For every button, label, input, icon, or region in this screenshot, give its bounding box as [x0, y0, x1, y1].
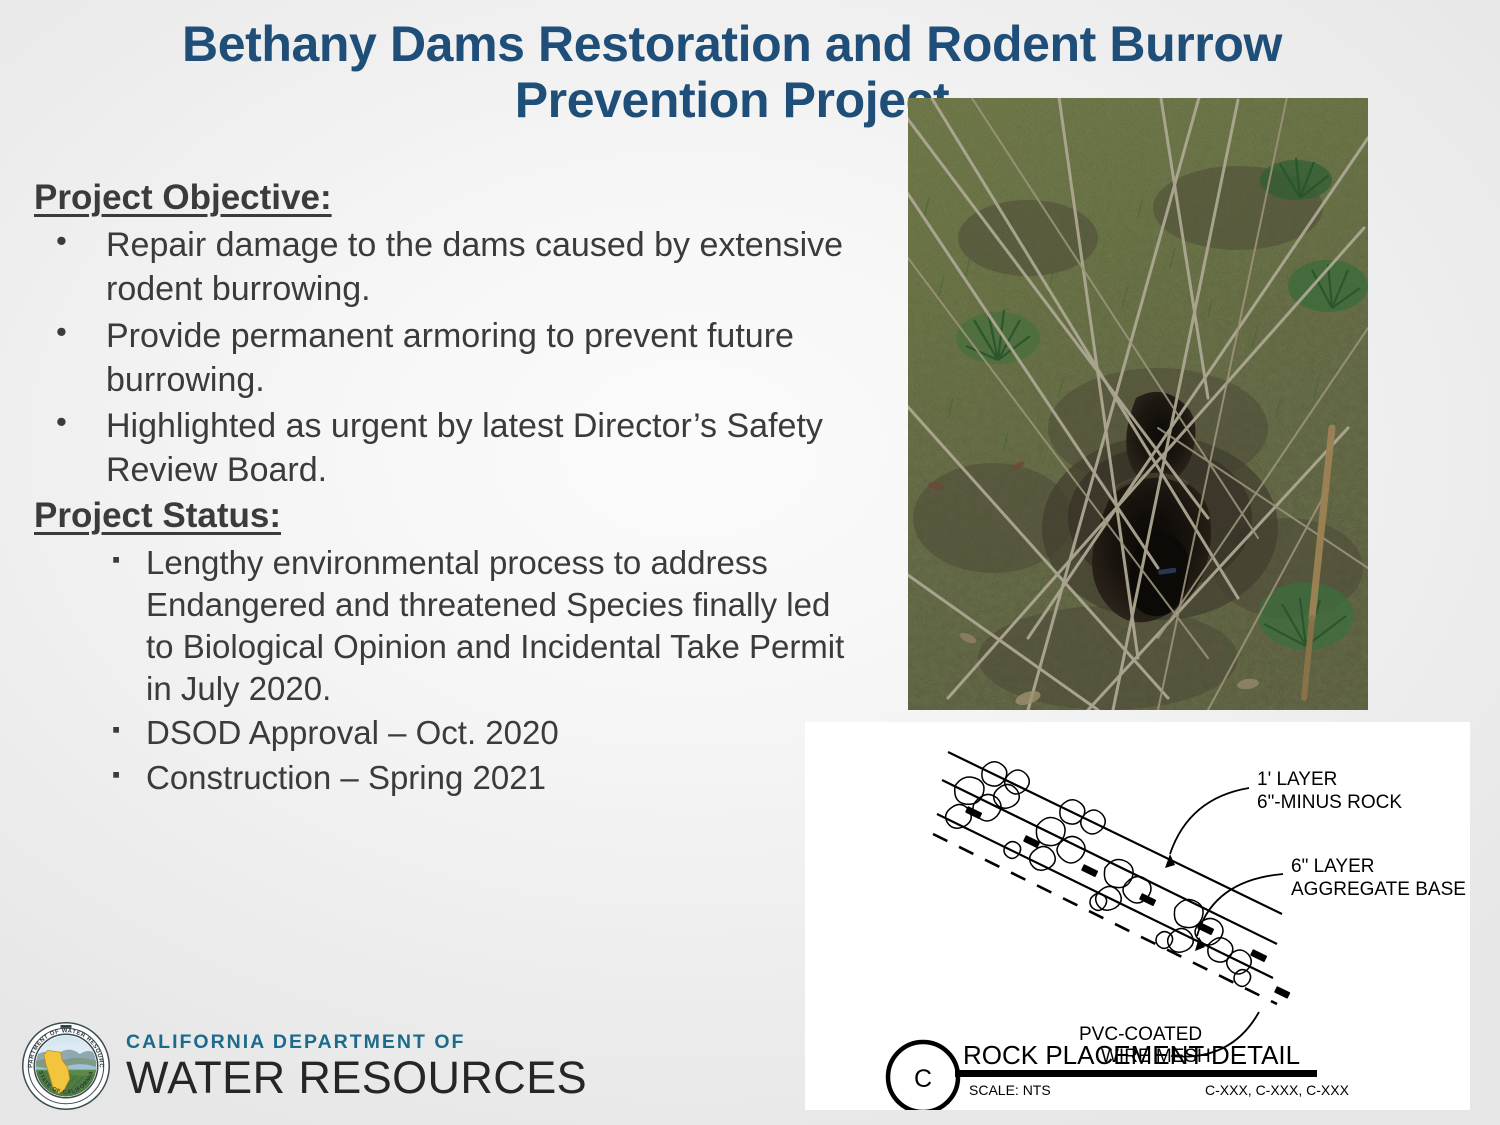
round-bullet-icon: •	[56, 221, 67, 261]
detail-scale: SCALE: NTS	[969, 1082, 1051, 1098]
list-item: ▪ DSOD Approval – Oct. 2020	[26, 712, 846, 754]
california-dwr-seal-icon: DEPARTMENT OF WATER RESOURCES STATE OF C…	[20, 1020, 112, 1112]
list-item-text: Construction – Spring 2021	[146, 759, 546, 796]
dwr-logo-wordmark: CALIFORNIA DEPARTMENT OF WATER RESOURCES	[126, 1031, 587, 1101]
list-item-text: Highlighted as urgent by latest Director…	[106, 407, 823, 489]
list-item: • Highlighted as urgent by latest Direct…	[26, 404, 846, 492]
diagram-label-2-line2: AGGREGATE BASE	[1291, 879, 1466, 900]
detail-marker-letter: C	[914, 1065, 932, 1093]
square-bullet-icon: ▪	[112, 758, 120, 790]
content-column: Project Objective: • Repair damage to th…	[26, 178, 846, 801]
title-block-rule	[955, 1070, 1317, 1077]
section-heading-status: Project Status:	[34, 496, 846, 535]
status-bullet-list: ▪ Lengthy environmental process to addre…	[26, 542, 846, 799]
dwr-logo: DEPARTMENT OF WATER RESOURCES STATE OF C…	[20, 1018, 587, 1114]
diagram-label-1-line2: 6"-MINUS ROCK	[1257, 792, 1402, 813]
list-item: ▪ Lengthy environmental process to addre…	[26, 542, 846, 711]
round-bullet-icon: •	[56, 312, 67, 352]
slide-canvas: Bethany Dams Restoration and Rodent Burr…	[0, 0, 1500, 1125]
list-item-text: Repair damage to the dams caused by exte…	[106, 226, 843, 308]
rock-placement-detail-drawing: 1' LAYER 6"-MINUS ROCK 6" LAYER AGGREGAT…	[805, 722, 1470, 1110]
list-item-text: DSOD Approval – Oct. 2020	[146, 714, 559, 751]
list-item: • Provide permanent armoring to prevent …	[26, 314, 846, 402]
list-item: • Repair damage to the dams caused by ex…	[26, 223, 846, 311]
dwr-logo-line1: CALIFORNIA DEPARTMENT OF	[126, 1031, 587, 1054]
round-bullet-icon: •	[56, 402, 67, 442]
diagram-label-1-line1: 1' LAYER	[1257, 769, 1337, 790]
dwr-logo-line2: WATER RESOURCES	[126, 1055, 587, 1101]
detail-title: ROCK PLACEMENT DETAIL	[963, 1040, 1300, 1070]
square-bullet-icon: ▪	[112, 543, 120, 575]
objective-bullet-list: • Repair damage to the dams caused by ex…	[26, 223, 846, 492]
list-item-text: Lengthy environmental process to address…	[146, 544, 844, 708]
detail-sheet-refs: C-XXX, C-XXX, C-XXX	[1205, 1082, 1350, 1098]
list-item-text: Provide permanent armoring to prevent fu…	[106, 317, 794, 399]
section-heading-objective: Project Objective:	[34, 178, 846, 217]
square-bullet-icon: ▪	[112, 713, 120, 745]
diagram-label-2-line1: 6" LAYER	[1291, 856, 1375, 877]
burrow-photo	[908, 98, 1368, 710]
list-item: ▪ Construction – Spring 2021	[26, 757, 846, 799]
